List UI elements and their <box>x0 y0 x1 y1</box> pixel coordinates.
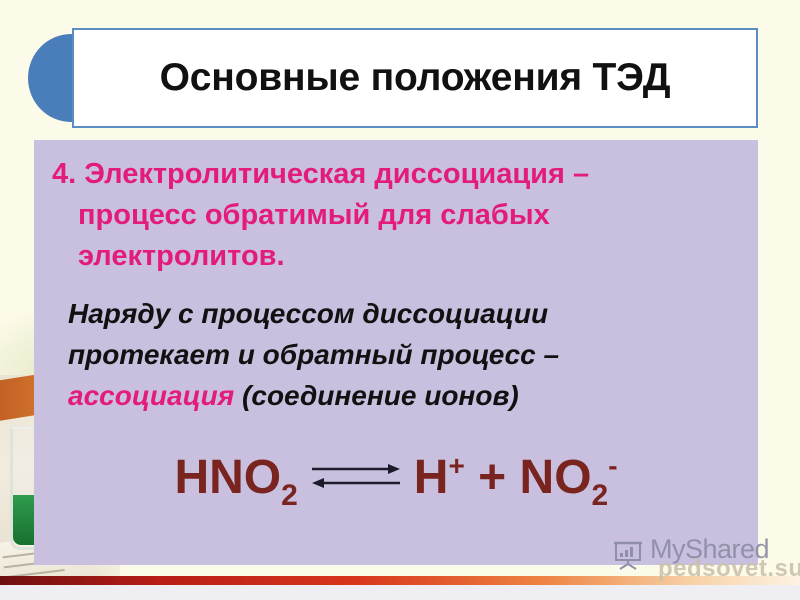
equation-product-h: H <box>414 451 449 504</box>
equation-product-no-charge: - <box>608 450 617 481</box>
chemical-equation: HNO2 H+ + NO2- <box>34 452 758 532</box>
equation-product-h-charge: + <box>448 450 464 481</box>
paragraph2-line3-rest: (соединение ионов) <box>234 380 518 411</box>
equation-plus: + <box>478 451 506 504</box>
page-title: Основные положения ТЭД <box>160 56 671 100</box>
paragraph2-line2: протекает и обратный процесс – <box>68 334 738 375</box>
equilibrium-arrows-icon <box>308 452 404 504</box>
presentation-chart-icon <box>612 538 646 570</box>
paragraph1-line3: электролитов. <box>52 236 738 277</box>
watermark-source: pedsovet.su <box>658 555 800 583</box>
slide-title-group: Основные положения ТЭД <box>28 28 762 128</box>
paragraph2-line3: ассоциация (соединение ионов) <box>68 375 738 416</box>
title-box: Основные положения ТЭД <box>72 28 758 128</box>
equation-product-no-subscript: 2 <box>592 479 609 512</box>
paragraph-statement: 4. Электролитическая диссоциация – проце… <box>52 154 738 277</box>
watermark: MyShared pedsovet.su <box>612 534 798 596</box>
term-association: ассоциация <box>68 380 234 411</box>
equation-reactant-formula: HNO <box>174 451 281 504</box>
paragraph1-line1: 4. Электролитическая диссоциация – <box>52 158 589 190</box>
paragraph2-line1: Наряду с процессом диссоциации <box>68 293 738 334</box>
paragraph1-line2: процесс обратимый для слабых <box>52 195 738 236</box>
equation-reactant: HNO2 <box>174 452 297 510</box>
equation-reactant-subscript: 2 <box>281 479 298 512</box>
equation-product-no: NO <box>520 451 592 504</box>
slide-canvas: Основные положения ТЭД 4. Электролитичес… <box>0 0 800 600</box>
equation-products: H+ + NO2- <box>414 452 618 510</box>
paragraph-explanation: Наряду с процессом диссоциации протекает… <box>52 293 738 416</box>
